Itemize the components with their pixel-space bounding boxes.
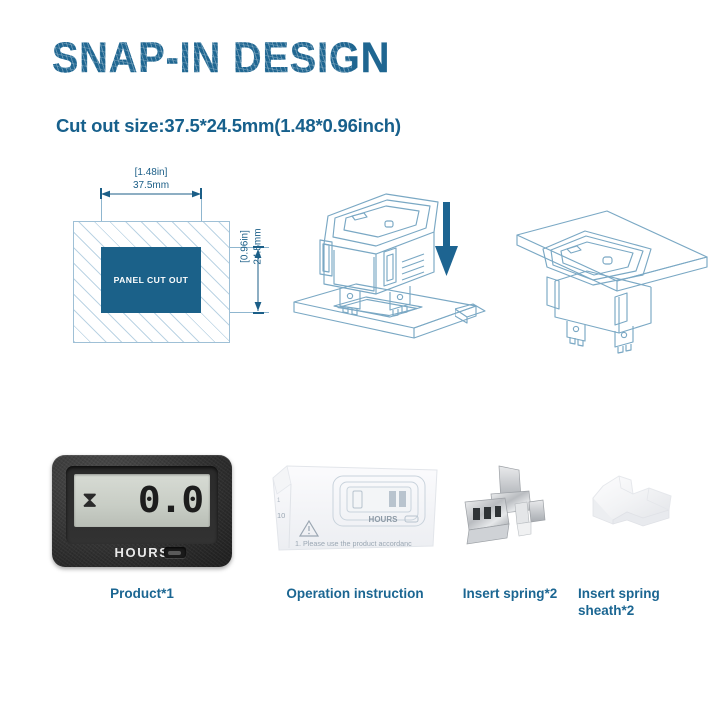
operation-instruction-photo: HOURS 1. Please use the product accordan… [265,458,445,563]
width-inch-value: [1.48in] [91,167,211,180]
panel-cut-out-label: PANEL CUT OUT [114,275,189,285]
manual-edge-number: 10 [277,511,285,520]
panel-cut-out-rect: PANEL CUT OUT [101,247,201,313]
header: SNAP-IN DESIGN [0,0,720,95]
hour-meter-product-photo: ⧗ 0.0 HOURS [52,455,232,567]
manual-instruction-line: 1. Please use the product accordanc [295,539,412,548]
caption-insert-spring-sheath: Insert spring sheath*2 [578,585,708,619]
caption-insert-spring: Insert spring*2 [440,585,580,602]
height-mm-value: 24.5mm [252,201,265,293]
page-title: SNAP-IN DESIGN [52,34,390,83]
reset-button[interactable] [164,547,186,558]
caption-product: Product*1 [52,585,232,602]
cutout-diagram: [1.48in] 37.5mm PANEL CUT OUT [0.96in] 2… [60,160,290,360]
width-tick-right [200,188,202,199]
hourglass-icon: ⧗ [82,486,94,514]
manual-device-label: HOURS [369,515,399,524]
caption-manual: Operation instruction [255,585,455,602]
install-step-installed-diagram [455,205,710,355]
included-items-row: ⧗ 0.0 HOURS Product*1 [0,440,720,670]
lcd-screen: ⧗ 0.0 [74,474,210,527]
width-tick-left [100,188,102,199]
insert-spring-sheath-photo [575,458,695,563]
height-dimension-label: [0.96in] 24.5mm [240,201,265,293]
height-tick-bottom [253,312,264,314]
height-inch-value: [0.96in] [240,201,253,293]
hours-label: HOURS [52,545,232,560]
cutout-size-subtitle: Cut out size:37.5*24.5mm(1.48*0.96inch) [56,115,401,137]
lcd-reading: 0.0 [138,478,203,523]
lcd-bezel-recess: ⧗ 0.0 [66,466,218,544]
infographic-page: SNAP-IN DESIGN Cut out size:37.5*24.5mm(… [0,0,720,720]
insert-spring-photo [455,458,565,563]
width-dimension-arrow [86,187,216,201]
